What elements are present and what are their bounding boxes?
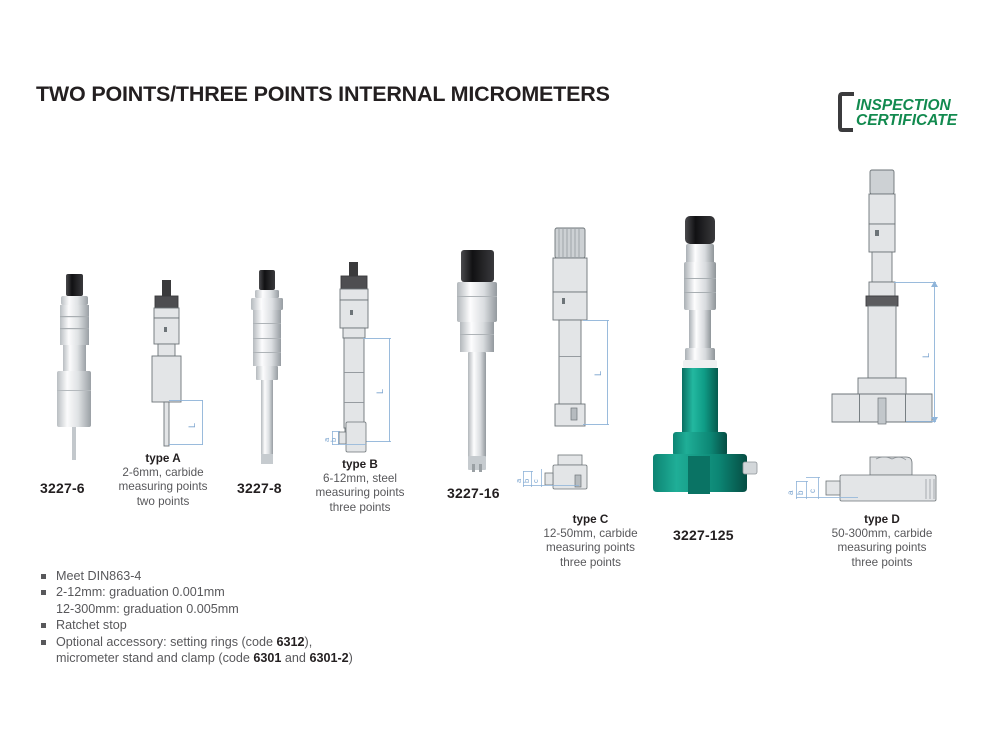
detail-view-type-c: a b c bbox=[515, 455, 607, 503]
product-type-block-a: type A 2-6mm, carbide measuring points t… bbox=[108, 452, 218, 509]
spec-item-accessory: Optional accessory: setting rings (code … bbox=[40, 634, 353, 667]
product-photo-3227-8 bbox=[242, 268, 312, 468]
product-photo-3227-16 bbox=[448, 248, 528, 478]
dim-label-l-a: L bbox=[187, 423, 197, 428]
dim-label-b-c: b bbox=[522, 479, 531, 483]
spec-item-graduation: 2-12mm: graduation 0.001mm 12-300mm: gra… bbox=[40, 584, 353, 617]
dim-label-l-d: L bbox=[921, 353, 931, 358]
type-spec2-b: measuring points bbox=[315, 486, 404, 499]
bullet-square-icon bbox=[41, 640, 46, 645]
bullet-square-icon bbox=[41, 623, 46, 628]
product-code-3227-8: 3227-8 bbox=[237, 480, 282, 496]
product-code-3227-6: 3227-6 bbox=[40, 480, 85, 496]
dim-label-b-b: b bbox=[329, 438, 338, 442]
dim-label-l-c: L bbox=[593, 371, 603, 376]
specifications-list: Meet DIN863-4 2-12mm: graduation 0.001mm… bbox=[40, 568, 353, 666]
type-spec3-a: two points bbox=[137, 495, 190, 508]
spec-text-ratchet: Ratchet stop bbox=[56, 618, 127, 632]
type-name-a: type A bbox=[108, 452, 218, 466]
bullet-square-icon bbox=[41, 574, 46, 579]
dim-label-a-d: a bbox=[786, 490, 795, 495]
type-name-b: type B bbox=[303, 458, 417, 472]
page-title: TWO POINTS/THREE POINTS INTERNAL MICROME… bbox=[36, 82, 610, 107]
catalog-page: TWO POINTS/THREE POINTS INTERNAL MICROME… bbox=[0, 0, 1000, 750]
type-spec1-d: 50-300mm, carbide bbox=[832, 527, 933, 540]
product-type-block-c: type C 12-50mm, carbide measuring points… bbox=[518, 513, 663, 570]
type-spec3-d: three points bbox=[851, 556, 912, 569]
dim-label-c-c: c bbox=[531, 479, 540, 483]
bullet-square-icon bbox=[41, 590, 46, 595]
spec-item-din: Meet DIN863-4 bbox=[40, 568, 353, 584]
product-type-block-b: type B 6-12mm, steel measuring points th… bbox=[303, 458, 417, 515]
type-spec3-b: three points bbox=[329, 501, 390, 514]
type-spec1-a: 2-6mm, carbide bbox=[122, 466, 203, 479]
product-type-block-d: type D 50-300mm, carbide measuring point… bbox=[806, 513, 958, 570]
type-spec2-a: measuring points bbox=[118, 480, 207, 493]
product-photo-3227-125 bbox=[655, 200, 775, 500]
product-drawing-type-d: L bbox=[830, 170, 950, 435]
type-spec2-c: measuring points bbox=[546, 541, 635, 554]
product-drawing-type-c: L bbox=[545, 228, 625, 453]
detail-view-type-d: a b c bbox=[778, 455, 948, 509]
product-photo-3227-6 bbox=[44, 272, 124, 462]
type-spec2-d: measuring points bbox=[837, 541, 926, 554]
type-spec1-c: 12-50mm, carbide bbox=[543, 527, 637, 540]
spec-text-accessory-cont: micrometer stand and clamp (code 6301 an… bbox=[56, 650, 353, 666]
product-code-3227-125: 3227-125 bbox=[673, 527, 734, 543]
spec-text-graduation: 2-12mm: graduation 0.001mm bbox=[56, 585, 225, 599]
spec-text-din: Meet DIN863-4 bbox=[56, 569, 141, 583]
type-spec3-c: three points bbox=[560, 556, 621, 569]
dim-label-c-d: c bbox=[808, 489, 817, 493]
bracket-icon bbox=[840, 94, 854, 130]
dim-label-b-d: b bbox=[796, 490, 805, 495]
type-name-c: type C bbox=[518, 513, 663, 527]
dim-label-l-b: L bbox=[375, 389, 385, 394]
type-name-d: type D bbox=[806, 513, 958, 527]
spec-text-accessory: Optional accessory: setting rings (code … bbox=[56, 635, 312, 649]
spec-item-ratchet: Ratchet stop bbox=[40, 617, 353, 633]
certificate-line2: CERTIFICATE bbox=[856, 112, 958, 129]
product-drawing-type-a: L bbox=[140, 280, 218, 455]
product-code-3227-16: 3227-16 bbox=[447, 485, 500, 501]
inspection-certificate-logo: INSPECTION CERTIFICATE bbox=[838, 92, 978, 134]
detail-view-type-b: a b bbox=[318, 418, 390, 460]
spec-text-graduation-cont: 12-300mm: graduation 0.005mm bbox=[56, 601, 353, 617]
type-spec1-b: 6-12mm, steel bbox=[323, 472, 397, 485]
